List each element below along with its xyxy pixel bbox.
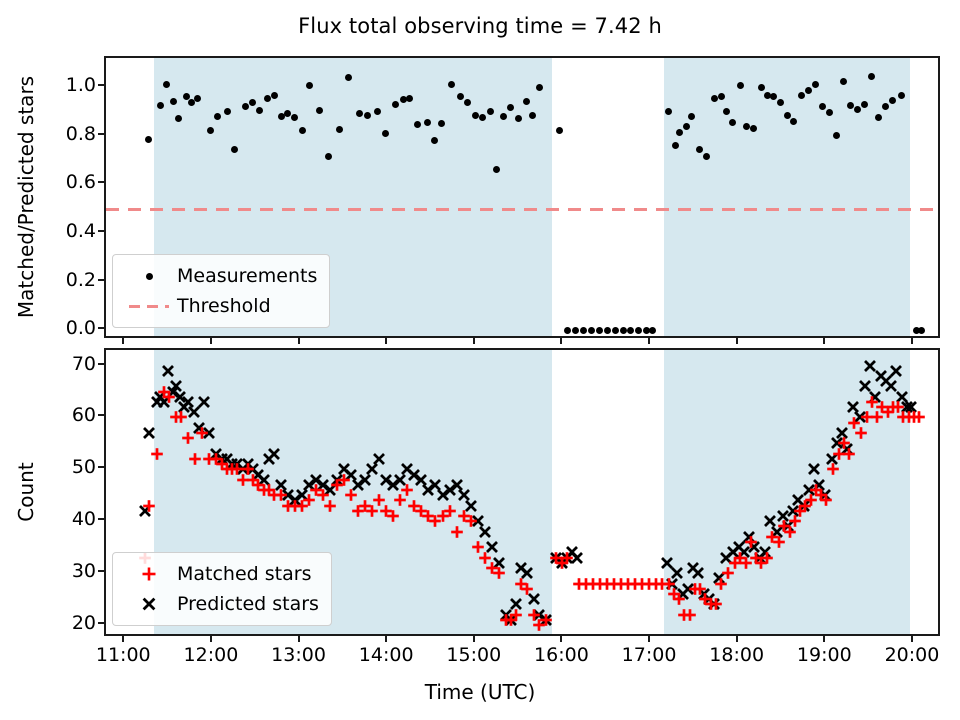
x-axis-tick-label: 17:00 — [622, 644, 677, 666]
data-point — [683, 123, 690, 130]
legend-entry-predicted-stars: Predicted stars — [121, 589, 319, 619]
data-point — [729, 119, 736, 126]
x-axis-tick-label: 13:00 — [271, 644, 326, 666]
data-point — [271, 92, 278, 99]
x-axis-tick-mark — [736, 636, 738, 642]
x-axis-tick-mark — [911, 636, 913, 642]
legend-label-predicted-stars: Predicted stars — [177, 593, 319, 615]
x-axis-tick-mark — [648, 636, 650, 642]
data-point — [612, 327, 619, 334]
data-point — [194, 95, 201, 102]
x-axis-tick-mark — [560, 636, 562, 642]
x-axis-tick-label: 14:00 — [359, 644, 414, 666]
y-axis-tick-mark — [98, 570, 104, 572]
data-point — [145, 136, 152, 143]
bottom-panel-y-axis-label: Count — [14, 462, 38, 521]
data-point — [784, 112, 791, 119]
data-point — [364, 112, 371, 119]
data-point — [711, 95, 718, 102]
data-point — [529, 112, 536, 119]
legend-entry-matched-stars: Matched stars — [121, 559, 319, 589]
bottom-panel-legend: Matched stars Predicted stars — [112, 552, 332, 626]
top-panel-legend: Measurements Threshold — [112, 254, 330, 328]
x-axis-tick-mark-top-panel — [210, 338, 212, 344]
x-axis-label: Time (UTC) — [0, 680, 960, 704]
data-point — [242, 103, 249, 110]
x-axis-tick-mark — [122, 636, 124, 642]
data-point — [264, 95, 271, 102]
x-axis-tick-label: 12:00 — [184, 644, 239, 666]
data-point — [854, 106, 861, 113]
data-point — [743, 123, 750, 130]
data-point — [414, 121, 421, 128]
data-point — [564, 327, 571, 334]
data-point — [214, 113, 221, 120]
data-point — [588, 327, 595, 334]
y-axis-tick-mark — [98, 327, 104, 329]
y-axis-tick-mark — [98, 466, 104, 468]
data-point — [457, 93, 464, 100]
x-axis-tick-mark-top-panel — [736, 338, 738, 344]
data-point — [580, 327, 587, 334]
y-axis-tick-mark — [98, 518, 104, 520]
data-point — [382, 130, 389, 137]
bottom-panel-axes: Matched stars Predicted stars — [104, 348, 940, 636]
x-axis-tick-mark — [473, 636, 475, 642]
data-point — [649, 327, 656, 334]
legend-entry-measurements: Measurements — [121, 261, 317, 291]
data-point — [620, 327, 627, 334]
y-axis-tick-mark — [98, 230, 104, 232]
matched-stars-plus-icon — [121, 565, 177, 583]
x-axis-tick-mark-top-panel — [385, 338, 387, 344]
y-axis-tick-label: 30 — [60, 560, 96, 582]
threshold-dashed-line-icon — [121, 305, 177, 308]
y-axis-tick-label: 0.6 — [60, 171, 96, 193]
y-axis-tick-mark — [98, 622, 104, 624]
x-axis-tick-mark — [385, 636, 387, 642]
legend-label-measurements: Measurements — [177, 265, 317, 287]
legend-entry-threshold: Threshold — [121, 291, 317, 321]
x-axis-tick-mark-top-panel — [473, 338, 475, 344]
y-axis-tick-mark — [98, 133, 104, 135]
y-axis-tick-label: 60 — [60, 404, 96, 426]
x-axis-tick-label: 16:00 — [534, 644, 589, 666]
top-panel-y-axis-label: Matched/Predicted stars — [14, 76, 38, 318]
data-point — [758, 84, 765, 91]
x-axis-tick-mark-top-panel — [122, 338, 124, 344]
top-panel-axes: Measurements Threshold — [104, 56, 940, 338]
data-point — [635, 327, 642, 334]
data-point — [556, 127, 563, 134]
y-axis-tick-mark — [98, 279, 104, 281]
predicted-stars-cross-icon — [121, 595, 177, 613]
data-point — [627, 327, 634, 334]
y-axis-tick-label: 1.0 — [60, 74, 96, 96]
y-axis-tick-label: 20 — [60, 612, 96, 634]
y-axis-tick-label: 0.2 — [60, 269, 96, 291]
data-point — [703, 153, 710, 160]
data-point — [596, 327, 603, 334]
x-axis-tick-label: 15:00 — [446, 644, 501, 666]
threshold-line — [106, 208, 938, 211]
x-axis-tick-label: 18:00 — [709, 644, 764, 666]
x-axis-tick-mark-top-panel — [298, 338, 300, 344]
data-point — [918, 327, 925, 334]
data-point — [291, 114, 298, 121]
x-axis-tick-mark-top-panel — [823, 338, 825, 344]
data-point — [696, 146, 703, 153]
shaded-observing-span-2 — [664, 58, 909, 336]
y-axis-tick-label: 0.0 — [60, 317, 96, 339]
x-axis-tick-mark — [210, 636, 212, 642]
data-point — [336, 126, 343, 133]
data-point — [231, 146, 238, 153]
data-point — [392, 101, 399, 108]
data-point — [604, 327, 611, 334]
y-axis-tick-mark — [98, 84, 104, 86]
x-axis-tick-mark-top-panel — [560, 338, 562, 344]
data-point — [472, 112, 479, 119]
data-point — [448, 81, 455, 88]
data-point — [840, 78, 847, 85]
figure-title: Flux total observing time = 7.42 h — [0, 14, 960, 38]
y-axis-tick-mark — [98, 181, 104, 183]
data-point — [157, 102, 164, 109]
data-point — [325, 153, 332, 160]
x-axis-tick-label: 20:00 — [885, 644, 940, 666]
data-point — [572, 327, 579, 334]
measurements-dot-icon — [121, 273, 177, 280]
y-axis-tick-label: 0.4 — [60, 220, 96, 242]
y-axis-tick-mark — [98, 414, 104, 416]
y-axis-tick-label: 70 — [60, 353, 96, 375]
x-axis-tick-mark — [298, 636, 300, 642]
figure-canvas: Flux total observing time = 7.42 h Measu… — [0, 0, 960, 720]
legend-label-matched-stars: Matched stars — [177, 563, 311, 585]
x-axis-tick-label: 19:00 — [797, 644, 852, 666]
x-axis-tick-label: 11:00 — [96, 644, 151, 666]
data-point — [723, 108, 730, 115]
y-axis-tick-label: 0.8 — [60, 123, 96, 145]
legend-label-threshold: Threshold — [177, 295, 271, 317]
y-axis-tick-label: 50 — [60, 456, 96, 478]
y-axis-tick-mark — [98, 363, 104, 365]
data-point — [665, 108, 672, 115]
data-point — [536, 84, 543, 91]
y-axis-tick-label: 40 — [60, 508, 96, 530]
data-point — [256, 107, 263, 114]
x-axis-tick-mark — [823, 636, 825, 642]
x-axis-tick-mark-top-panel — [648, 338, 650, 344]
x-axis-tick-mark-top-panel — [911, 338, 913, 344]
data-point — [688, 113, 695, 120]
data-point — [424, 119, 431, 126]
data-point — [406, 95, 413, 102]
